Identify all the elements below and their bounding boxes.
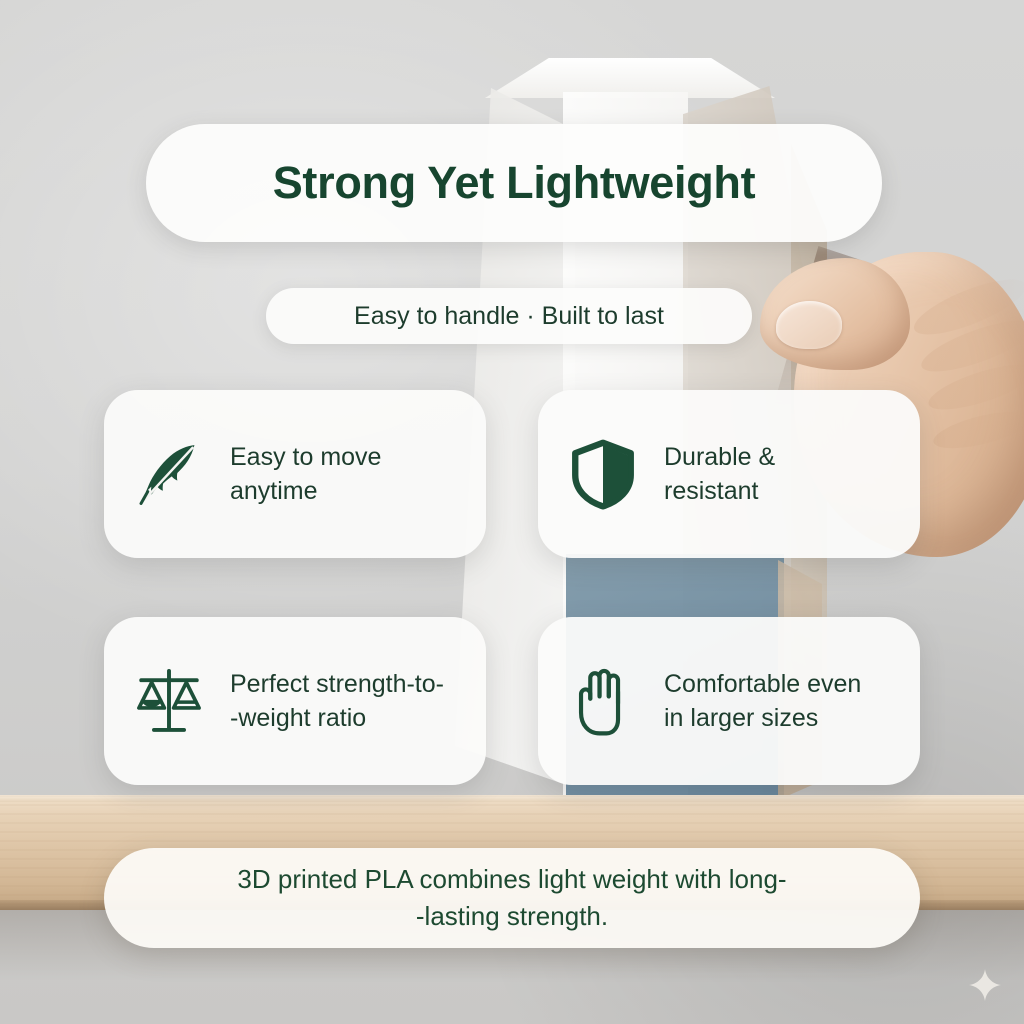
feather-icon <box>130 435 208 513</box>
scene-root: Strong Yet Lightweight Easy to handle · … <box>0 0 1024 1024</box>
feature-card-comfortable[interactable]: Comfortable even in larger sizes <box>538 617 920 785</box>
feature-card-durable[interactable]: Durable & resistant <box>538 390 920 558</box>
feature-label: Comfortable even in larger sizes <box>664 667 861 736</box>
overlay-ui: Strong Yet Lightweight Easy to handle · … <box>0 0 1024 1024</box>
feature-label: Durable & resistant <box>664 440 775 509</box>
feature-card-strength-weight[interactable]: Perfect strength-to- -weight ratio <box>104 617 486 785</box>
page-subtitle: Easy to handle · Built to last <box>354 302 664 331</box>
shield-icon <box>564 435 642 513</box>
feature-label: Perfect strength-to- -weight ratio <box>230 667 444 736</box>
page-title: Strong Yet Lightweight <box>273 157 756 209</box>
footer-text: 3D printed PLA combines light weight wit… <box>237 861 786 935</box>
scales-icon <box>130 662 208 740</box>
footer-pill: 3D printed PLA combines light weight wit… <box>104 848 920 948</box>
feature-label: Easy to move anytime <box>230 440 381 509</box>
feature-card-easy-to-move[interactable]: Easy to move anytime <box>104 390 486 558</box>
hand-icon <box>564 662 642 740</box>
title-pill: Strong Yet Lightweight <box>146 124 882 242</box>
subtitle-pill: Easy to handle · Built to last <box>266 288 752 344</box>
sparkle-icon <box>968 968 1002 1002</box>
